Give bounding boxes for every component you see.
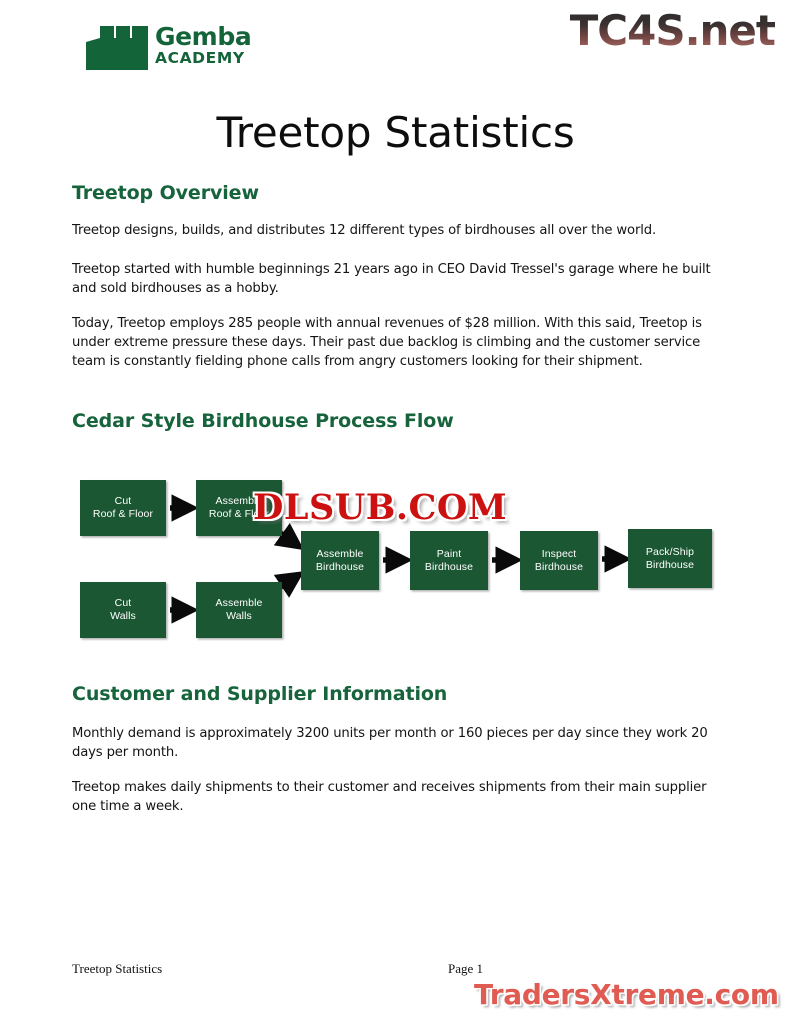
logo-primary-text: Gemba bbox=[155, 24, 251, 49]
overview-paragraph-1: Treetop designs, builds, and distributes… bbox=[72, 221, 724, 240]
watermark-top: TC4S.net bbox=[570, 6, 775, 55]
flow-box-assemble-birdhouse[interactable]: Assemble Birdhouse bbox=[301, 531, 379, 590]
flow-box-inspect-birdhouse[interactable]: Inspect Birdhouse bbox=[520, 531, 598, 590]
flow-box-label: Assemble Walls bbox=[216, 597, 263, 623]
flow-box-cut-roof-floor[interactable]: Cut Roof & Floor bbox=[80, 480, 166, 536]
footer-page-number: Page 1 bbox=[0, 961, 791, 977]
flow-box-assemble-walls[interactable]: Assemble Walls bbox=[196, 582, 282, 638]
section-heading-customer-supplier: Customer and Supplier Information bbox=[72, 683, 447, 705]
overview-paragraph-3: Today, Treetop employs 285 people with a… bbox=[72, 314, 724, 371]
customer-paragraph-2: Treetop makes daily shipments to their c… bbox=[72, 778, 724, 816]
overview-paragraph-2: Treetop started with humble beginnings 2… bbox=[72, 260, 724, 298]
flow-box-label: Assemble Birdhouse bbox=[316, 548, 364, 574]
watermark-footer: TradersXtreme.com bbox=[474, 978, 779, 1011]
flow-box-label: Inspect Birdhouse bbox=[535, 548, 583, 574]
flow-box-label: Cut Walls bbox=[110, 597, 136, 623]
watermark-diagram: DLSUB.COM bbox=[253, 487, 507, 528]
flow-box-cut-walls[interactable]: Cut Walls bbox=[80, 582, 166, 638]
customer-paragraph-1: Monthly demand is approximately 3200 uni… bbox=[72, 724, 724, 762]
section-heading-process-flow: Cedar Style Birdhouse Process Flow bbox=[72, 410, 454, 432]
document-page: Gemba ACADEMY TC4S.net Treetop Statistic… bbox=[0, 0, 791, 1024]
gemba-academy-logo: Gemba ACADEMY bbox=[86, 24, 251, 70]
flow-box-label: Cut Roof & Floor bbox=[93, 495, 153, 521]
page-title: Treetop Statistics bbox=[0, 108, 791, 157]
factory-sawtooth-icon bbox=[86, 26, 148, 70]
flow-box-label: Paint Birdhouse bbox=[425, 548, 473, 574]
logo-secondary-text: ACADEMY bbox=[155, 51, 251, 67]
section-heading-overview: Treetop Overview bbox=[72, 182, 259, 204]
flow-box-pack-ship-birdhouse[interactable]: Pack/Ship Birdhouse bbox=[628, 529, 712, 588]
flow-box-paint-birdhouse[interactable]: Paint Birdhouse bbox=[410, 531, 488, 590]
flow-box-label: Pack/Ship Birdhouse bbox=[646, 546, 694, 572]
